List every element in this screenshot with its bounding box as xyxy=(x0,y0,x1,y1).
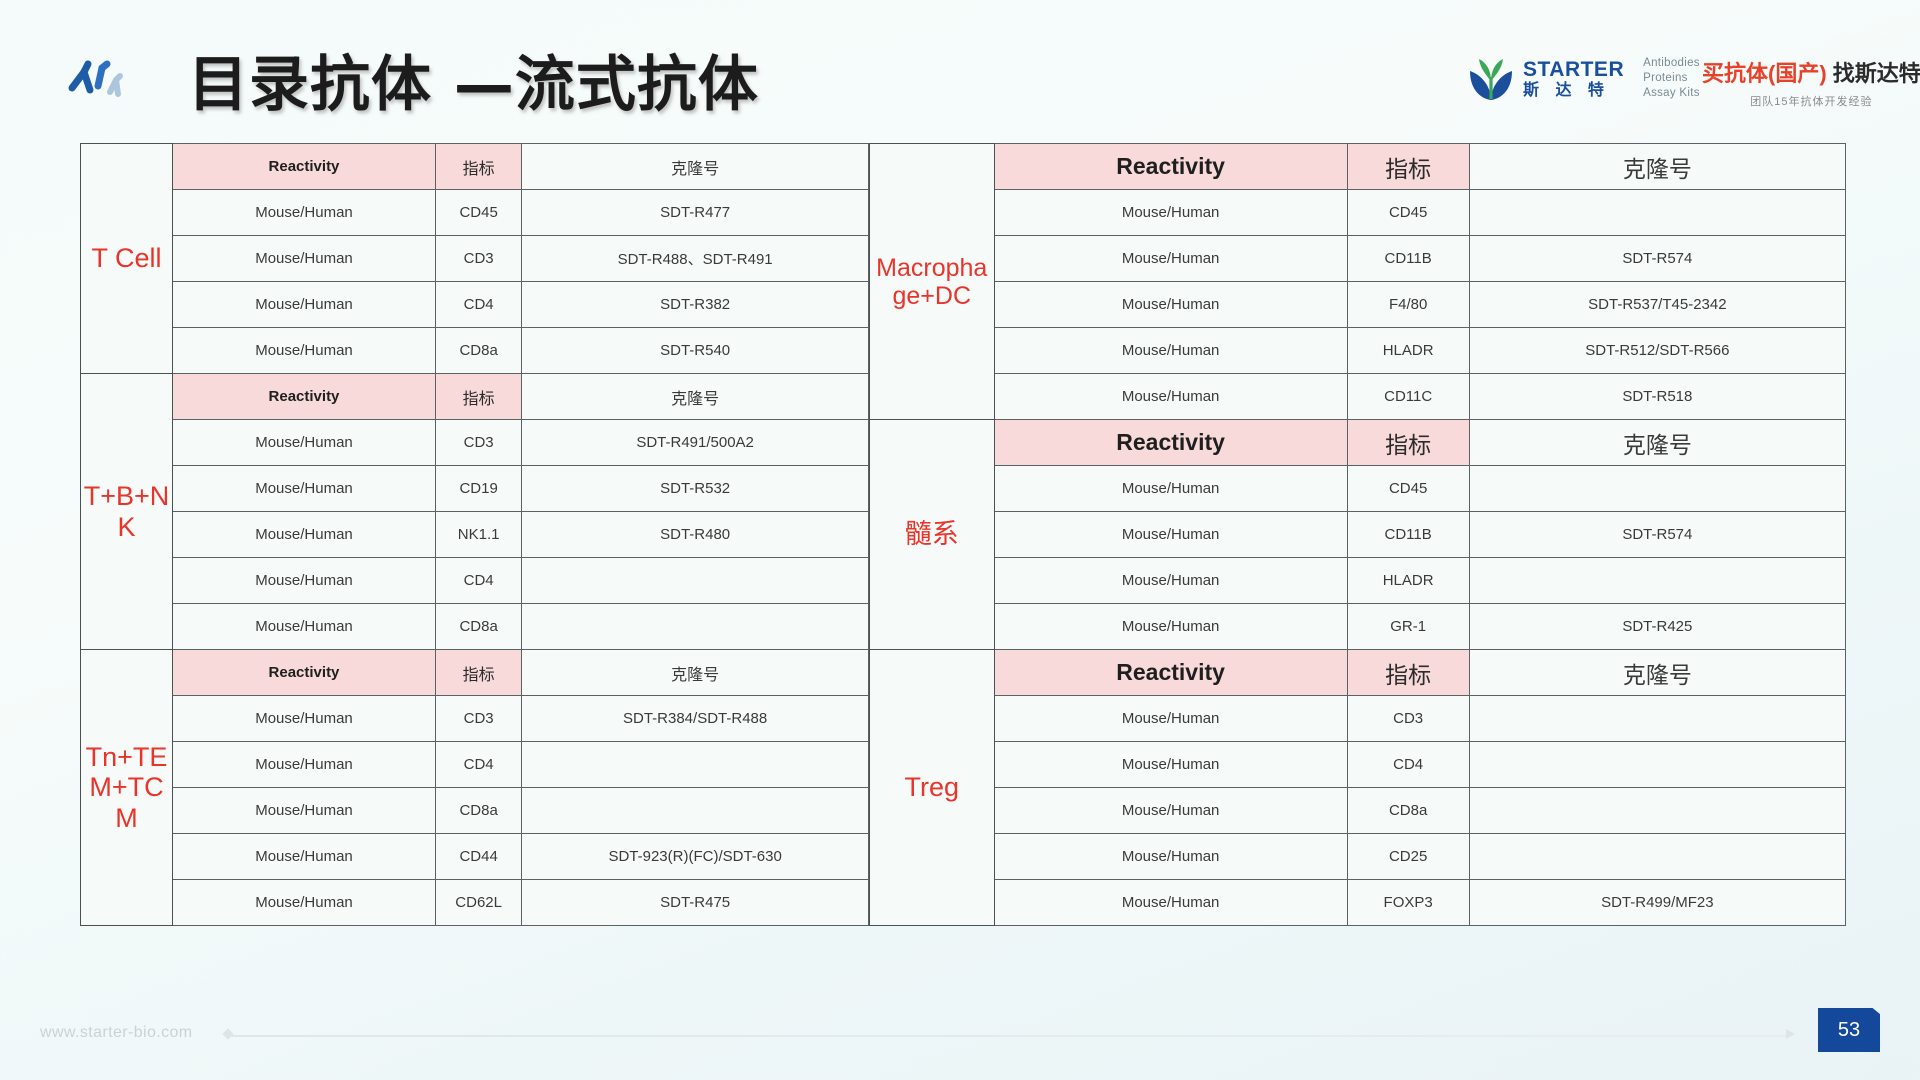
column-header-clone: 克隆号 xyxy=(1469,650,1845,696)
antibody-icon xyxy=(58,52,128,108)
cell-reactivity: Mouse/Human xyxy=(173,696,436,742)
column-header-clone: 克隆号 xyxy=(522,374,868,420)
table-group-header-row: Macrophage+DCReactivity指标克隆号 xyxy=(869,144,1845,190)
cell-reactivity: Mouse/Human xyxy=(173,236,436,282)
table-row: Mouse/HumanCD45SDT-R477 xyxy=(81,190,869,236)
page-number-badge: 53 xyxy=(1818,1008,1880,1052)
category-label: T Cell xyxy=(81,144,173,374)
tagline-line-3: Assay Kits xyxy=(1643,86,1700,101)
column-header-clone: 克隆号 xyxy=(522,650,868,696)
column-header-index: 指标 xyxy=(1347,144,1469,190)
cell-index: CD62L xyxy=(435,880,522,926)
table-row: Mouse/HumanGR-1SDT-R425 xyxy=(869,604,1845,650)
cell-clone: SDT-R382 xyxy=(522,282,868,328)
table-row: Mouse/HumanHLADRSDT-R512/SDT-R566 xyxy=(869,328,1845,374)
antibody-tables: T CellReactivity指标克隆号Mouse/HumanCD45SDT-… xyxy=(80,143,1846,926)
cell-index: CD11B xyxy=(1347,236,1469,282)
brand-name-en: STARTER xyxy=(1523,59,1624,80)
cell-reactivity: Mouse/Human xyxy=(173,604,436,650)
brand-tagline: Antibodies Proteins Assay Kits xyxy=(1643,56,1700,102)
cell-clone: SDT-R574 xyxy=(1469,236,1845,282)
column-header-index: 指标 xyxy=(435,374,522,420)
cell-index: CD4 xyxy=(435,558,522,604)
table-row: Mouse/HumanCD4 xyxy=(81,742,869,788)
cell-index: CD4 xyxy=(1347,742,1469,788)
cell-index: CD8a xyxy=(1347,788,1469,834)
category-label: 髓系 xyxy=(869,420,994,650)
cell-reactivity: Mouse/Human xyxy=(173,190,436,236)
column-header-index: 指标 xyxy=(435,144,522,190)
category-label: Macrophage+DC xyxy=(869,144,994,420)
column-header-clone: 克隆号 xyxy=(1469,420,1845,466)
cell-reactivity: Mouse/Human xyxy=(994,880,1347,926)
table-group-header-row: 髓系Reactivity指标克隆号 xyxy=(869,420,1845,466)
cell-clone xyxy=(1469,190,1845,236)
slogan-sub: 团队15年抗体开发经验 xyxy=(1750,93,1872,109)
page-title: 目录抗体 —流式抗体 xyxy=(188,36,759,123)
cell-index: NK1.1 xyxy=(435,512,522,558)
table-row: Mouse/HumanCD11BSDT-R574 xyxy=(869,236,1845,282)
cell-index: CD4 xyxy=(435,282,522,328)
table-row: Mouse/HumanCD8a xyxy=(869,788,1845,834)
starter-leaf-icon xyxy=(1468,57,1514,101)
table-row: Mouse/HumanCD3SDT-R488、SDT-R491 xyxy=(81,236,869,282)
table-group-header-row: T CellReactivity指标克隆号 xyxy=(81,144,869,190)
cell-clone xyxy=(522,558,868,604)
cell-index: CD19 xyxy=(435,466,522,512)
table-row: Mouse/HumanCD45 xyxy=(869,466,1845,512)
cell-reactivity: Mouse/Human xyxy=(173,788,436,834)
cell-clone xyxy=(1469,788,1845,834)
cell-clone: SDT-923(R)(FC)/SDT-630 xyxy=(522,834,868,880)
cell-reactivity: Mouse/Human xyxy=(173,512,436,558)
cell-index: HLADR xyxy=(1347,328,1469,374)
cell-index: CD3 xyxy=(435,420,522,466)
footer-url: www.starter-bio.com xyxy=(40,1024,193,1042)
column-header-clone: 克隆号 xyxy=(1469,144,1845,190)
column-header-reactivity: Reactivity xyxy=(994,144,1347,190)
cell-reactivity: Mouse/Human xyxy=(994,604,1347,650)
cell-clone xyxy=(522,604,868,650)
cell-index: CD3 xyxy=(1347,696,1469,742)
table-row: Mouse/HumanFOXP3SDT-R499/MF23 xyxy=(869,880,1845,926)
cell-index: CD8a xyxy=(435,604,522,650)
cell-reactivity: Mouse/Human xyxy=(994,236,1347,282)
cell-clone xyxy=(1469,696,1845,742)
cell-index: CD45 xyxy=(435,190,522,236)
column-header-index: 指标 xyxy=(1347,420,1469,466)
cell-clone: SDT-R477 xyxy=(522,190,868,236)
cell-clone: SDT-R540 xyxy=(522,328,868,374)
table-row: Mouse/HumanCD3SDT-R491/500A2 xyxy=(81,420,869,466)
cell-index: CD44 xyxy=(435,834,522,880)
table-row: Mouse/HumanCD44SDT-923(R)(FC)/SDT-630 xyxy=(81,834,869,880)
table-group-header-row: TregReactivity指标克隆号 xyxy=(869,650,1845,696)
cell-reactivity: Mouse/Human xyxy=(994,696,1347,742)
table-row: Mouse/HumanCD25 xyxy=(869,834,1845,880)
cell-reactivity: Mouse/Human xyxy=(173,420,436,466)
cell-clone: SDT-R425 xyxy=(1469,604,1845,650)
cell-reactivity: Mouse/Human xyxy=(994,788,1347,834)
cell-index: CD8a xyxy=(435,328,522,374)
table-row: Mouse/HumanCD8aSDT-R540 xyxy=(81,328,869,374)
cell-reactivity: Mouse/Human xyxy=(173,742,436,788)
cell-index: GR-1 xyxy=(1347,604,1469,650)
column-header-clone: 克隆号 xyxy=(522,144,868,190)
table-row: Mouse/HumanCD8a xyxy=(81,788,869,834)
cell-index: CD3 xyxy=(435,696,522,742)
footer-arrow-icon xyxy=(1786,1029,1795,1039)
left-antibody-table: T CellReactivity指标克隆号Mouse/HumanCD45SDT-… xyxy=(80,143,869,926)
cell-reactivity: Mouse/Human xyxy=(173,880,436,926)
table-row: Mouse/HumanCD3 xyxy=(869,696,1845,742)
cell-reactivity: Mouse/Human xyxy=(994,190,1347,236)
column-header-index: 指标 xyxy=(1347,650,1469,696)
cell-index: CD4 xyxy=(435,742,522,788)
cell-clone xyxy=(1469,742,1845,788)
brand-logo: STARTER 斯 达 特 Antibodies Proteins Assay … xyxy=(1468,56,1700,102)
cell-clone: SDT-R512/SDT-R566 xyxy=(1469,328,1845,374)
right-antibody-table: Macrophage+DCReactivity指标克隆号Mouse/HumanC… xyxy=(869,143,1846,926)
tagline-line-1: Antibodies xyxy=(1643,56,1700,71)
table-row: Mouse/HumanCD4 xyxy=(81,558,869,604)
cell-clone xyxy=(522,788,868,834)
cell-index: CD45 xyxy=(1347,466,1469,512)
cell-reactivity: Mouse/Human xyxy=(994,834,1347,880)
category-label: Tn+TEM+TCM xyxy=(81,650,173,926)
cell-index: F4/80 xyxy=(1347,282,1469,328)
cell-reactivity: Mouse/Human xyxy=(994,558,1347,604)
slide-header: 目录抗体 —流式抗体 STARTER 斯 达 特 Antibodies Prot… xyxy=(0,0,1920,130)
cell-clone xyxy=(522,742,868,788)
slide-footer: www.starter-bio.com xyxy=(0,1010,1920,1070)
table-row: Mouse/HumanF4/80SDT-R537/T45-2342 xyxy=(869,282,1845,328)
cell-clone: SDT-R574 xyxy=(1469,512,1845,558)
table-row: Mouse/HumanCD3SDT-R384/SDT-R488 xyxy=(81,696,869,742)
slogan-red: 买抗体(国产) xyxy=(1702,61,1827,86)
brand-name-cn: 斯 达 特 xyxy=(1523,83,1624,99)
footer-divider xyxy=(230,1035,1790,1037)
cell-clone: SDT-R499/MF23 xyxy=(1469,880,1845,926)
cell-reactivity: Mouse/Human xyxy=(173,282,436,328)
table-row: Mouse/HumanCD8a xyxy=(81,604,869,650)
cell-index: CD11C xyxy=(1347,374,1469,420)
category-label: Treg xyxy=(869,650,994,926)
cell-clone xyxy=(1469,834,1845,880)
cell-clone: SDT-R491/500A2 xyxy=(522,420,868,466)
column-header-index: 指标 xyxy=(435,650,522,696)
table-row: Mouse/HumanCD19SDT-R532 xyxy=(81,466,869,512)
cell-reactivity: Mouse/Human xyxy=(994,466,1347,512)
table-row: Mouse/HumanCD45 xyxy=(869,190,1845,236)
tagline-line-2: Proteins xyxy=(1643,71,1700,86)
table-row: Mouse/HumanCD4SDT-R382 xyxy=(81,282,869,328)
cell-clone xyxy=(1469,466,1845,512)
column-header-reactivity: Reactivity xyxy=(994,650,1347,696)
cell-reactivity: Mouse/Human xyxy=(173,558,436,604)
table-row: Mouse/HumanNK1.1SDT-R480 xyxy=(81,512,869,558)
cell-clone: SDT-R488、SDT-R491 xyxy=(522,236,868,282)
cell-reactivity: Mouse/Human xyxy=(994,282,1347,328)
cell-clone: SDT-R518 xyxy=(1469,374,1845,420)
cell-clone: SDT-R384/SDT-R488 xyxy=(522,696,868,742)
table-row: Mouse/HumanCD11CSDT-R518 xyxy=(869,374,1845,420)
column-header-reactivity: Reactivity xyxy=(173,650,436,696)
cell-clone xyxy=(1469,558,1845,604)
category-label: T+B+NK xyxy=(81,374,173,650)
cell-index: CD25 xyxy=(1347,834,1469,880)
cell-reactivity: Mouse/Human xyxy=(994,512,1347,558)
footer-line-start-marker xyxy=(222,1028,233,1039)
cell-clone: SDT-R475 xyxy=(522,880,868,926)
cell-reactivity: Mouse/Human xyxy=(994,374,1347,420)
cell-index: CD11B xyxy=(1347,512,1469,558)
cell-index: FOXP3 xyxy=(1347,880,1469,926)
cell-reactivity: Mouse/Human xyxy=(173,466,436,512)
cell-reactivity: Mouse/Human xyxy=(994,328,1347,374)
table-group-header-row: Tn+TEM+TCMReactivity指标克隆号 xyxy=(81,650,869,696)
table-row: Mouse/HumanCD62LSDT-R475 xyxy=(81,880,869,926)
cell-index: CD45 xyxy=(1347,190,1469,236)
cell-reactivity: Mouse/Human xyxy=(994,742,1347,788)
cell-clone: SDT-R537/T45-2342 xyxy=(1469,282,1845,328)
cell-index: CD8a xyxy=(435,788,522,834)
column-header-reactivity: Reactivity xyxy=(994,420,1347,466)
cell-clone: SDT-R532 xyxy=(522,466,868,512)
cell-clone: SDT-R480 xyxy=(522,512,868,558)
slogan: 买抗体(国产) 找斯达特 团队15年抗体开发经验 xyxy=(1702,56,1920,109)
cell-index: CD3 xyxy=(435,236,522,282)
cell-reactivity: Mouse/Human xyxy=(173,834,436,880)
slogan-dark: 找斯达特 xyxy=(1833,61,1920,86)
cell-reactivity: Mouse/Human xyxy=(173,328,436,374)
cell-index: HLADR xyxy=(1347,558,1469,604)
table-group-header-row: T+B+NKReactivity指标克隆号 xyxy=(81,374,869,420)
column-header-reactivity: Reactivity xyxy=(173,144,436,190)
table-row: Mouse/HumanCD4 xyxy=(869,742,1845,788)
column-header-reactivity: Reactivity xyxy=(173,374,436,420)
table-row: Mouse/HumanHLADR xyxy=(869,558,1845,604)
table-row: Mouse/HumanCD11BSDT-R574 xyxy=(869,512,1845,558)
